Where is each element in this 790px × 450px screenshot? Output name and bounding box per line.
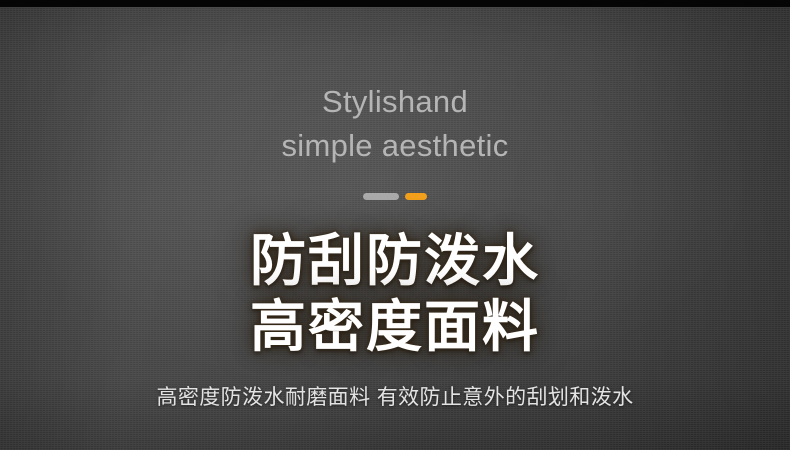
eyebrow-line-2: simple aesthetic: [0, 124, 790, 168]
divider-dashes: [0, 193, 790, 200]
eyebrow-text: Stylishand simple aesthetic: [0, 80, 790, 168]
banner-content: Stylishand simple aesthetic 防刮防泼水 高密度面料 …: [0, 0, 790, 450]
product-feature-banner: Stylishand simple aesthetic 防刮防泼水 高密度面料 …: [0, 0, 790, 450]
caption-text: 高密度防泼水耐磨面料 有效防止意外的刮划和泼水: [0, 383, 790, 413]
divider-dash-grey: [363, 193, 399, 200]
divider-dash-orange: [405, 193, 427, 200]
headline-line-2: 高密度面料: [0, 294, 790, 360]
headline-line-1: 防刮防泼水: [0, 228, 790, 294]
headline-text: 防刮防泼水 高密度面料: [0, 228, 790, 360]
eyebrow-line-1: Stylishand: [322, 84, 468, 119]
